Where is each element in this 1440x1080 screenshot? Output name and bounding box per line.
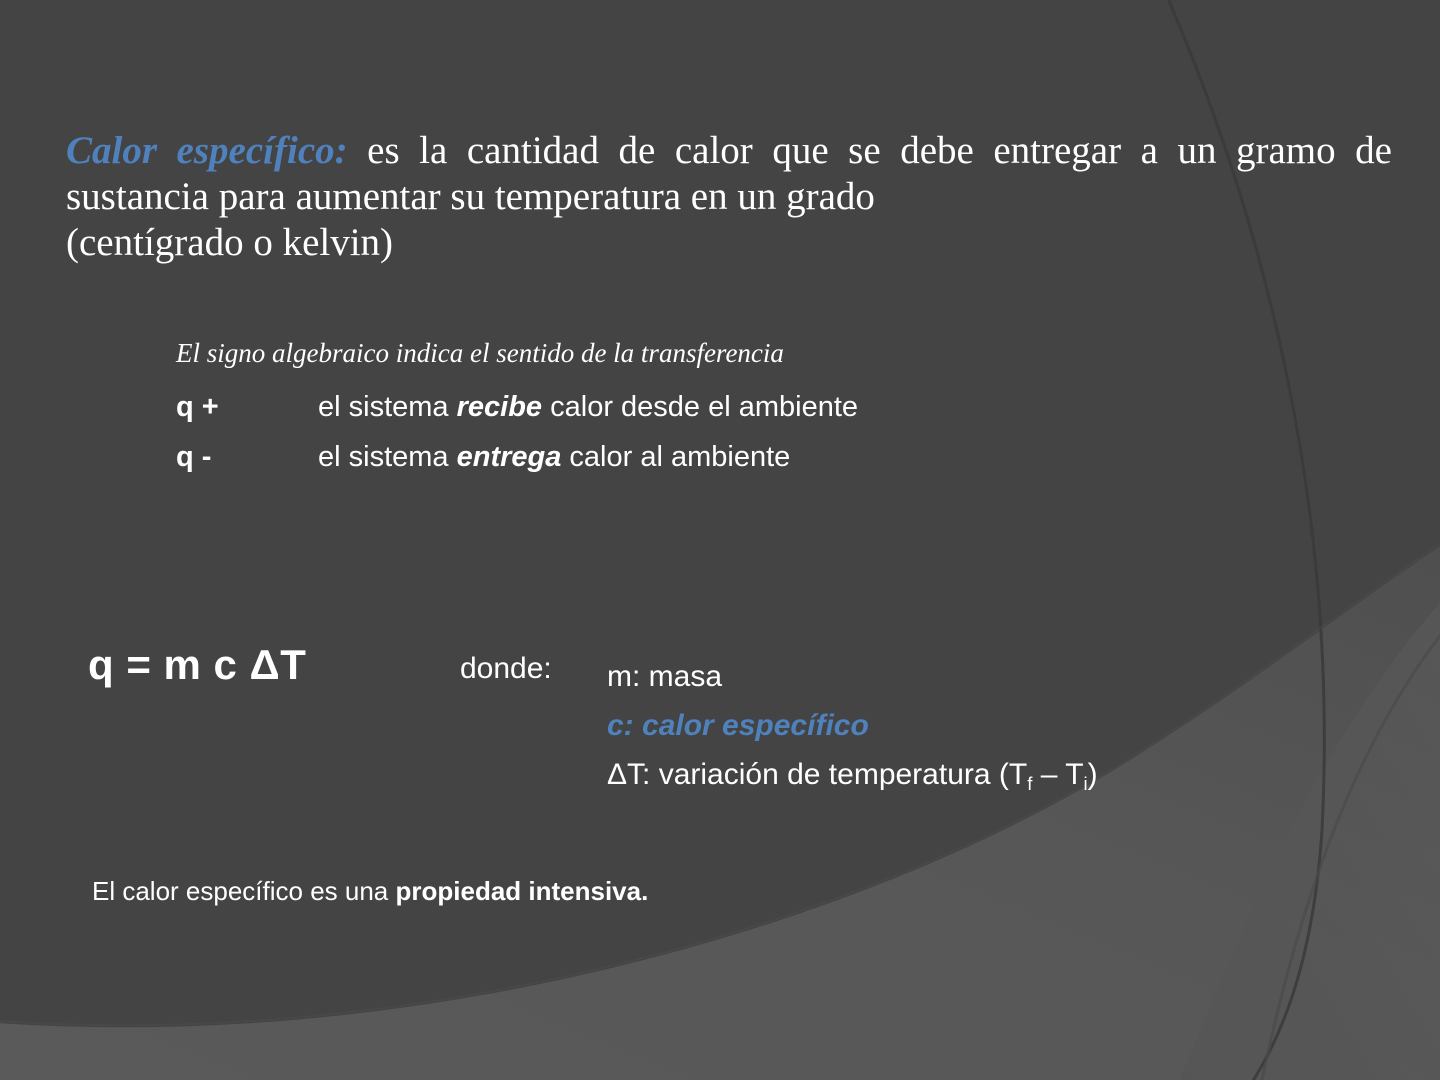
sign-description-positive: el sistema recibe calor desde el ambient… xyxy=(318,389,858,425)
definition-mass: m: masa xyxy=(607,652,1098,701)
sign-desc-before-negative: el sistema xyxy=(318,441,457,473)
sign-description-negative: el sistema entrega calor al ambiente xyxy=(318,439,790,475)
sign-row-negative: q - el sistema entrega calor al ambiente xyxy=(176,439,790,475)
heat-equation: q = m c ΔT xyxy=(88,641,306,689)
sign-symbol-positive: q + xyxy=(176,389,318,425)
presentation-slide: Calor específico: es la cantidad de calo… xyxy=(0,0,1440,1080)
sign-row-positive: q + el sistema recibe calor desde el amb… xyxy=(176,389,858,425)
sign-section-heading: El signo algebraico indica el sentido de… xyxy=(176,336,784,370)
footnote-text-bold: propiedad intensiva. xyxy=(396,876,649,906)
definition-delta-t-sub-final: f xyxy=(1027,773,1032,794)
definition-specific-heat: c: calor específico xyxy=(607,701,1098,750)
slide-content: Calor específico: es la cantidad de calo… xyxy=(0,0,1440,1080)
where-label: donde: xyxy=(460,652,552,686)
intro-paragraph: Calor específico: es la cantidad de calo… xyxy=(66,128,1392,266)
definition-delta-t-middle: – T xyxy=(1032,758,1083,791)
definition-delta-t: ΔT: variación de temperatura (Tf – Ti) xyxy=(607,750,1098,802)
sign-desc-before-positive: el sistema xyxy=(318,391,457,423)
sign-desc-emphasis-negative: entrega xyxy=(457,441,562,473)
definition-delta-t-suffix: ) xyxy=(1088,758,1098,791)
footnote-intensive-property: El calor específico es una propiedad int… xyxy=(92,876,648,907)
intro-lead-term: Calor específico: xyxy=(66,129,348,172)
sign-desc-after-negative: calor al ambiente xyxy=(561,441,790,473)
sign-desc-after-positive: calor desde el ambiente xyxy=(542,391,858,423)
sign-symbol-negative: q - xyxy=(176,439,318,475)
sign-desc-emphasis-positive: recibe xyxy=(457,391,542,423)
definition-delta-t-prefix: ΔT: variación de temperatura (T xyxy=(607,758,1027,791)
footnote-text-before: El calor específico es una xyxy=(92,876,396,906)
definition-delta-t-sub-initial: i xyxy=(1084,773,1088,794)
equation-variable-definitions: m: masa c: calor específico ΔT: variació… xyxy=(607,652,1098,802)
intro-last-line: (centígrado o kelvin) xyxy=(66,220,1392,266)
